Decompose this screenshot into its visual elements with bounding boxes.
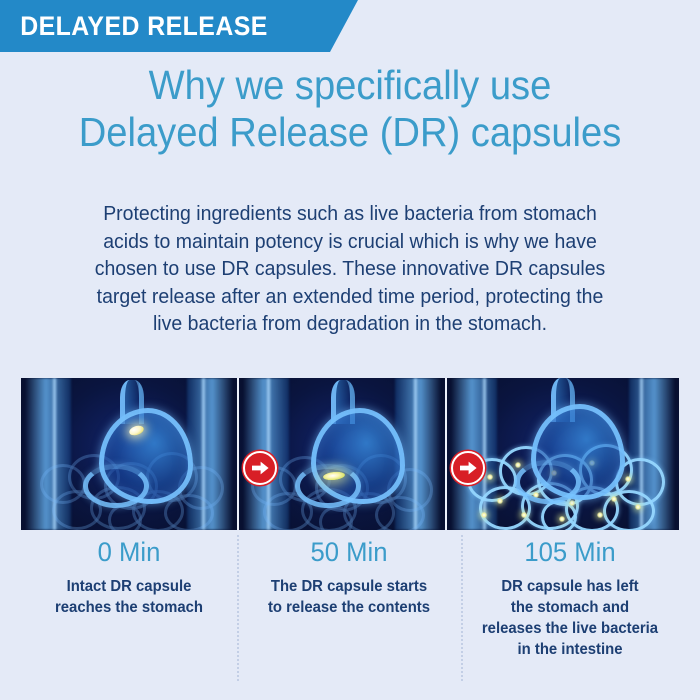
page-title: Why we specifically use Delayed Release … [0, 62, 700, 156]
timeline-captions: 0 Min Intact DR capsule reaches the stom… [21, 536, 679, 660]
timeline-step-0min: 0 Min Intact DR capsule reaches the stom… [21, 536, 237, 660]
body-line-1: Protecting ingredients such as live bact… [65, 200, 635, 228]
time-label-50min: 50 Min [237, 536, 461, 568]
body-line-3: chosen to use DR capsules. These innovat… [65, 255, 635, 283]
banner-label: DELAYED RELEASE [0, 11, 268, 42]
right-arrow-icon [460, 461, 477, 475]
body-line-4: target release after an extended time pe… [65, 283, 635, 311]
page-title-line-1: Why we specifically use [25, 62, 676, 109]
timeline-step-50min: 50 Min The DR capsule starts to release … [237, 536, 461, 660]
body-line-5: live bacteria from degradation in the st… [65, 310, 635, 338]
caption-50min: The DR capsule starts to release the con… [237, 576, 461, 618]
body-line-2: acids to maintain potency is crucial whi… [65, 228, 635, 256]
page-title-line-2: Delayed Release (DR) capsules [25, 109, 676, 156]
illustration-panel-0min [21, 378, 237, 530]
time-label-105min: 105 Min [461, 536, 679, 568]
right-arrow-icon [252, 461, 269, 475]
illustration-panel-105min [447, 378, 679, 530]
step-arrow-1 [243, 451, 277, 485]
illustration-strip [21, 378, 679, 530]
step-arrow-2 [451, 451, 485, 485]
delayed-release-banner: DELAYED RELEASE [0, 0, 358, 52]
timeline-step-105min: 105 Min DR capsule has left the stomach … [461, 536, 679, 660]
caption-105min: DR capsule has left the stomach and rele… [461, 576, 679, 660]
time-label-0min: 0 Min [21, 536, 237, 568]
body-paragraph: Protecting ingredients such as live bact… [50, 200, 650, 338]
caption-0min: Intact DR capsule reaches the stomach [21, 576, 237, 618]
